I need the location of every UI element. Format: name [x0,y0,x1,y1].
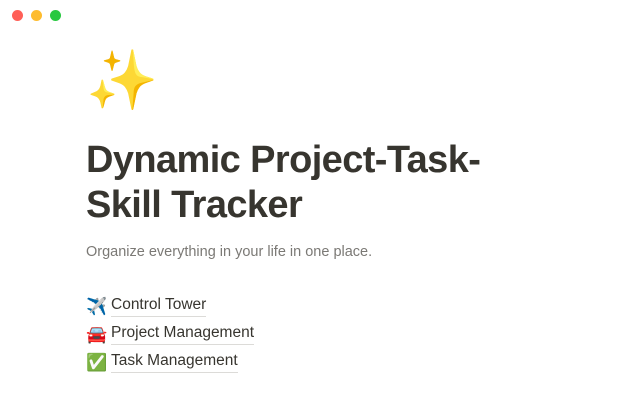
page-content: ✨ Dynamic Project-Task-Skill Tracker Org… [0,52,640,400]
check-mark-emoji: ✅ [86,354,111,371]
page-title[interactable]: Dynamic Project-Task-Skill Tracker [86,138,538,228]
minimize-window-button[interactable] [31,10,42,21]
page-link-list: ✈️ Control Tower 🚘 Project Management ✅ … [86,292,640,376]
car-emoji: 🚘 [86,326,111,343]
app-window: ✨ Dynamic Project-Task-Skill Tracker Org… [0,0,640,400]
close-window-button[interactable] [12,10,23,21]
page-subtitle[interactable]: Organize everything in your life in one … [86,242,640,264]
maximize-window-button[interactable] [50,10,61,21]
list-item[interactable]: 🚘 Project Management [86,320,640,348]
page-link-control-tower[interactable]: Control Tower [111,295,206,317]
list-item[interactable]: ✈️ Control Tower [86,292,640,320]
list-item[interactable]: ✅ Task Management [86,348,640,376]
page-link-task-management[interactable]: Task Management [111,351,238,373]
page-link-project-management[interactable]: Project Management [111,323,254,345]
airplane-emoji: ✈️ [86,298,111,315]
traffic-light-controls [12,10,61,21]
sparkles-emoji[interactable]: ✨ [86,52,640,126]
window-titlebar [0,0,640,30]
